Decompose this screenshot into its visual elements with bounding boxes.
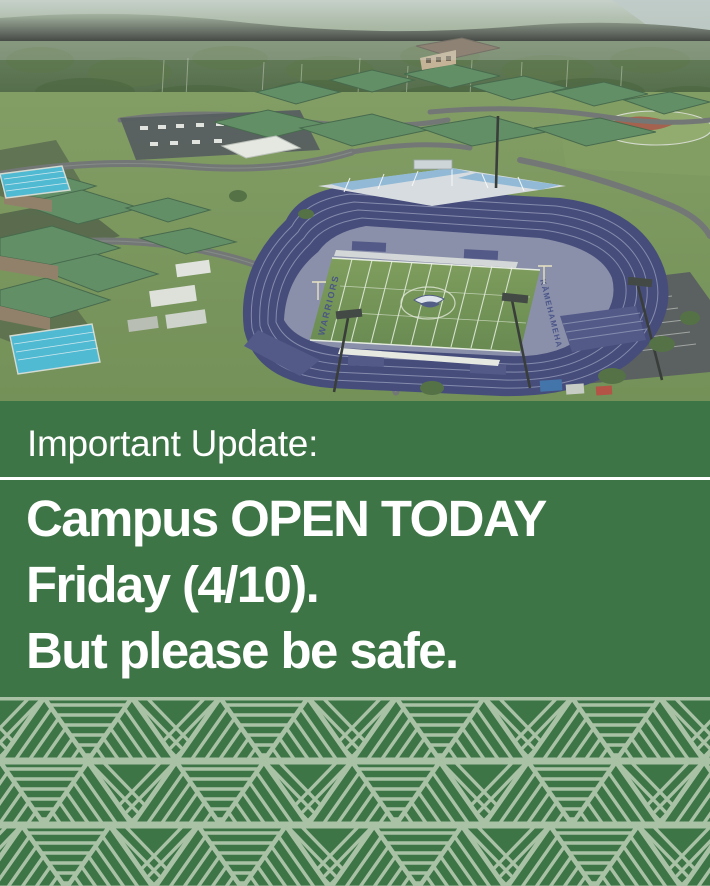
headline: Campus OPEN TODAY Friday (4/10). But ple… [26, 486, 686, 684]
message-band: Important Update: Campus OPEN TODAY Frid… [0, 401, 710, 697]
pattern-row-2 [0, 761, 710, 825]
pattern-row-1 [0, 697, 710, 761]
eyebrow-text: Important Update: [27, 422, 318, 466]
announcement-poster: WARRIORS KĀMEHAMEHA [0, 0, 710, 886]
campus-aerial-photo: WARRIORS KĀMEHAMEHA [0, 0, 710, 401]
headline-line-1: Campus OPEN TODAY [26, 486, 686, 552]
decorative-pattern-band [0, 697, 710, 886]
divider-rule [0, 477, 710, 480]
headline-line-2: Friday (4/10). [26, 552, 686, 618]
headline-line-3: But please be safe. [26, 618, 686, 684]
pattern-row-3 [0, 825, 710, 886]
